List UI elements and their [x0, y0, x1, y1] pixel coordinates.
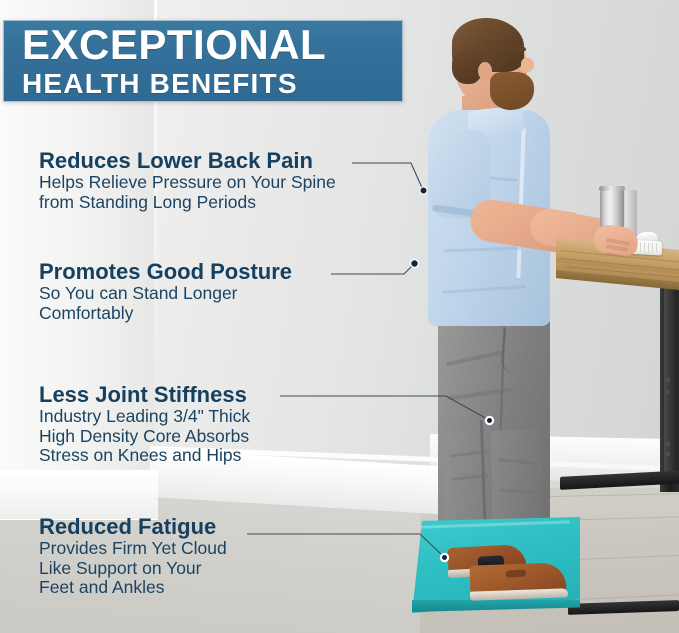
callout-line: from Standing Long Periods	[39, 193, 336, 213]
product-infographic: EXCEPTIONAL HEALTH BENEFITS Reduces Lowe…	[0, 0, 679, 633]
callout-line: Feet and Ankles	[39, 578, 227, 598]
callout-line: Industry Leading 3/4" Thick	[39, 407, 250, 427]
header-banner: EXCEPTIONAL HEALTH BENEFITS	[3, 20, 403, 102]
banner-title-line1: EXCEPTIONAL	[22, 24, 402, 66]
desk-leg-bolt	[666, 378, 670, 382]
callout-title: Less Joint Stiffness	[39, 383, 250, 407]
callout-line: Provides Firm Yet Cloud	[39, 539, 227, 559]
callout-title: Promotes Good Posture	[39, 260, 292, 284]
callout-line: High Density Core Absorbs	[39, 427, 250, 447]
callout-line: So You can Stand Longer	[39, 284, 292, 304]
baseboard-left	[0, 470, 158, 520]
callout-promotes-good-posture: Promotes Good Posture So You can Stand L…	[39, 260, 292, 323]
tumbler-lip	[599, 186, 625, 191]
desk-leg-bolt	[666, 452, 670, 456]
banner-title-line2: HEALTH BENEFITS	[22, 69, 402, 99]
desk-leg-column	[664, 276, 677, 476]
callout-less-joint-stiffness: Less Joint Stiffness Industry Leading 3/…	[39, 383, 250, 466]
desk-leg-bolt	[666, 442, 670, 446]
callout-reduces-lower-back-pain: Reduces Lower Back Pain Helps Relieve Pr…	[39, 149, 336, 212]
callout-reduced-fatigue: Reduced Fatigue Provides Firm Yet Cloud …	[39, 515, 227, 598]
nose	[521, 58, 534, 72]
desk-leg-bolt	[666, 390, 670, 394]
callout-line: Helps Relieve Pressure on Your Spine	[39, 173, 336, 193]
callout-title: Reduces Lower Back Pain	[39, 149, 336, 173]
shoe-lace	[506, 569, 526, 577]
callout-line: Stress on Knees and Hips	[39, 446, 250, 466]
callout-title: Reduced Fatigue	[39, 515, 227, 539]
callout-line: Comfortably	[39, 304, 292, 324]
callout-line: Like Support on Your	[39, 559, 227, 579]
